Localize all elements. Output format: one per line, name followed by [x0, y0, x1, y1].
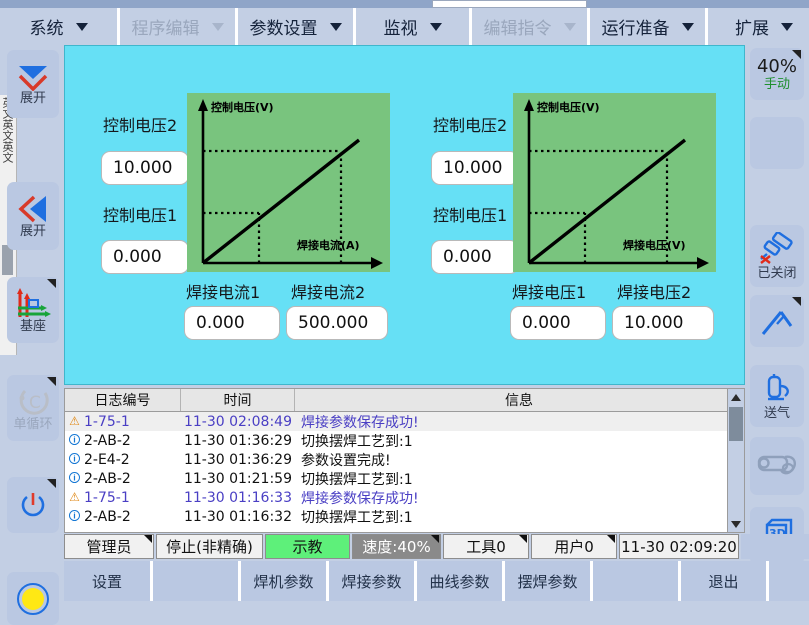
current-curve-plot: 控制电压(V) 焊接电流(A)	[187, 93, 390, 272]
voltage-curve-chart: 控制电压(V) 焊接电压(V)	[513, 93, 716, 272]
voltage-curve-plot: 控制电压(V) 焊接电压(V)	[513, 93, 716, 272]
function-button-label: 焊机参数	[253, 571, 313, 592]
function-button-5[interactable]: 摆焊参数	[505, 561, 593, 601]
log-row-message: 参数设置完成!	[295, 450, 744, 470]
log-table-header: 日志编号 时间 信息	[65, 389, 744, 412]
log-row-id: 2-AB-2	[84, 471, 181, 487]
parameter-canvas: 控制电压2 10.000 控制电压1 0.000 控制电压(V) 焊接电流(A)	[64, 45, 745, 385]
welding-voltage-1-input[interactable]: 0.000	[510, 306, 606, 340]
menu-item-4: 编辑指令	[472, 8, 590, 45]
info-icon: 🛈	[65, 469, 84, 488]
welding-current-2-label: 焊接电流2	[291, 279, 365, 303]
menu-item-5[interactable]: 运行准备	[590, 8, 708, 45]
log-row-time: 11-30 01:36:29	[181, 452, 295, 468]
log-row-time: 11-30 02:08:49	[181, 414, 295, 430]
status-item-4[interactable]: 工具0	[443, 534, 529, 559]
power-icon	[17, 489, 49, 521]
gas-feed-label: 送气	[764, 407, 790, 421]
menu-item-1: 程序编辑	[120, 8, 238, 45]
yellow-dot-icon	[15, 581, 51, 617]
status-item-0[interactable]: 管理员	[64, 534, 154, 559]
function-button-label: 摆焊参数	[517, 571, 577, 592]
status-item-label: 11-30 02:09:20	[621, 538, 737, 556]
welding-torch-icon	[757, 304, 797, 338]
chevron-down-icon	[564, 23, 576, 31]
menu-item-3[interactable]: 监视	[356, 8, 472, 45]
log-row[interactable]: 🛈2-AB-211-30 01:16:32切换摆焊工艺到:1	[65, 507, 744, 526]
expand-down-button[interactable]: 展开	[7, 50, 59, 118]
log-col-id: 日志编号	[65, 389, 181, 411]
single-cycle-button[interactable]: C 单循环	[7, 375, 59, 441]
function-button-label: 设置	[92, 571, 122, 592]
y-axis-label: 控制电压(V)	[211, 100, 274, 114]
gas-feed-button[interactable]: 送气	[750, 365, 804, 427]
menu-item-label: 系统	[30, 14, 64, 39]
welding-current-2-input[interactable]: 500.000	[286, 306, 388, 340]
log-row-time: 11-30 01:36:29	[181, 433, 295, 449]
svg-text:C: C	[29, 393, 41, 413]
title-strip	[0, 0, 809, 8]
chevron-down-icon	[212, 23, 224, 31]
function-button-label: 退出	[708, 571, 738, 592]
log-row-id: 2-AB-2	[84, 433, 181, 449]
base-coordinate-button[interactable]: 基座	[7, 277, 59, 343]
welder-state-button[interactable]: 已关闭	[750, 225, 804, 287]
current-curve-chart: 控制电压(V) 焊接电流(A)	[187, 93, 390, 272]
gas-cylinder-icon	[758, 372, 796, 406]
welder-state-label: 已关闭	[757, 267, 796, 281]
function-button-3[interactable]: 焊接参数	[329, 561, 417, 601]
control-voltage-1-input[interactable]: 0.000	[101, 240, 189, 274]
welding-voltage-2-label: 焊接电压2	[617, 279, 691, 303]
blank-slot-button[interactable]	[750, 117, 804, 169]
function-button-6[interactable]	[593, 561, 681, 601]
voltage-curve-group: 控制电压2 10.000 控制电压1 0.000 控制电压(V) 焊接电压(V)	[395, 46, 735, 384]
log-row-message: 焊接参数保存成功!	[295, 488, 744, 508]
status-item-label: 管理员	[86, 536, 131, 557]
welding-voltage-2-input[interactable]: 10.000	[612, 306, 714, 340]
function-button-label: 曲线参数	[429, 571, 489, 592]
expand-left-label: 展开	[20, 225, 46, 239]
dropdown-corner-icon	[607, 535, 615, 543]
menu-item-label: 监视	[384, 14, 418, 39]
log-col-msg: 信息	[295, 389, 744, 411]
base-coordinate-label: 基座	[20, 320, 46, 334]
welding-torch-off-icon	[757, 232, 797, 266]
log-row-time: 11-30 01:21:59	[181, 471, 295, 487]
speed-override-button[interactable]: 40% 手动	[750, 48, 804, 100]
info-icon: 🛈	[65, 450, 84, 469]
log-row-id: 1-75-1	[84, 490, 181, 506]
menu-bar: 系统程序编辑参数设置监视编辑指令运行准备扩展	[0, 8, 809, 45]
chevron-double-down-icon	[16, 63, 50, 91]
chevron-down-icon	[781, 23, 793, 31]
log-row[interactable]: 🛈2-AB-211-30 01:21:59切换摆焊工艺到:1	[65, 469, 744, 488]
status-item-1[interactable]: 停止(非精确)	[156, 534, 263, 559]
function-button-1[interactable]	[153, 561, 241, 601]
speed-override-mode: 手动	[764, 78, 790, 92]
log-row[interactable]: 🛈2-AB-211-30 01:36:29切换摆焊工艺到:1	[65, 431, 744, 450]
corner-marker-icon	[792, 50, 801, 59]
chevron-down-icon	[76, 23, 88, 31]
chevron-down-icon	[330, 23, 342, 31]
window-tab-ghost	[432, 0, 587, 8]
welding-voltage-1-label: 焊接电压1	[512, 279, 586, 303]
corner-marker-icon	[792, 297, 801, 306]
menu-item-label: 扩展	[735, 14, 769, 39]
chevron-down-icon	[682, 23, 694, 31]
log-table: 日志编号 时间 信息 ⚠1-75-111-30 02:08:49焊接参数保存成功…	[64, 388, 745, 533]
right-toolbar: 40% 手动 已关闭	[745, 45, 809, 601]
log-row-message: 切换摆焊工艺到:1	[295, 469, 744, 489]
status-item-7[interactable]	[741, 534, 809, 559]
x-axis-label: 焊接电压(V)	[623, 238, 686, 252]
function-button-4[interactable]: 曲线参数	[417, 561, 505, 601]
menu-item-label: 参数设置	[250, 14, 318, 39]
control-voltage-1-label: 控制电压1	[433, 202, 507, 226]
menu-item-label: 编辑指令	[484, 14, 552, 39]
corner-marker-icon	[47, 279, 56, 288]
status-item-2[interactable]: 示教	[265, 534, 350, 559]
expand-down-label: 展开	[20, 92, 46, 106]
log-row-message: 焊接参数保存成功!	[295, 412, 744, 432]
expand-left-button[interactable]: 展开	[7, 182, 59, 250]
log-row[interactable]: ⚠1-75-111-30 02:08:49焊接参数保存成功!	[65, 412, 744, 431]
status-item-label: 示教	[292, 536, 322, 557]
function-button-label: 焊接参数	[341, 571, 401, 592]
chevron-double-left-icon	[16, 194, 50, 224]
scroll-down-arrow[interactable]	[728, 516, 744, 532]
status-item-label: 用户0	[554, 536, 594, 557]
log-table-body[interactable]: ⚠1-75-111-30 02:08:49焊接参数保存成功!🛈2-AB-211-…	[65, 412, 744, 532]
cycle-icon: C	[15, 385, 51, 417]
log-row-id: 1-75-1	[84, 414, 181, 430]
log-row-message: 切换摆焊工艺到:1	[295, 431, 744, 451]
menu-item-label: 运行准备	[602, 14, 670, 39]
speed-override-value: 40%	[757, 57, 797, 77]
status-item-label: 工具0	[466, 536, 506, 557]
menu-item-6[interactable]: 扩展	[708, 8, 809, 45]
dropdown-corner-icon	[431, 535, 439, 543]
log-row-time: 11-30 01:16:33	[181, 490, 295, 506]
coordinate-axes-icon	[14, 287, 52, 319]
single-cycle-label: 单循环	[13, 418, 52, 432]
control-voltage-2-label: 控制电压2	[103, 112, 177, 136]
status-bar: 管理员停止(非精确)示教速度:40%工具0用户011-30 02:09:20	[64, 534, 809, 560]
status-item-5[interactable]: 用户0	[531, 534, 617, 559]
warning-icon: ⚠	[65, 412, 84, 431]
current-curve-group: 控制电压2 10.000 控制电压1 0.000 控制电压(V) 焊接电流(A)	[65, 46, 405, 384]
log-col-time: 时间	[181, 389, 295, 411]
scroll-thumb[interactable]	[729, 407, 743, 441]
control-voltage-2-input[interactable]: 10.000	[101, 151, 189, 185]
x-axis-label: 焊接电流(A)	[297, 238, 360, 252]
log-row[interactable]: 🛈2-E4-211-30 01:36:29参数设置完成!	[65, 450, 744, 469]
log-scrollbar[interactable]	[727, 389, 744, 532]
function-button-8[interactable]	[769, 561, 809, 601]
left-toolbar: 英文英文英文 展开 展开	[0, 45, 64, 601]
info-icon: 🛈	[65, 507, 84, 526]
control-voltage-2-label: 控制电压2	[433, 112, 507, 136]
y-axis-label: 控制电压(V)	[537, 100, 600, 114]
function-button-2[interactable]: 焊机参数	[241, 561, 329, 601]
chevron-down-icon	[430, 23, 442, 31]
info-icon: 🛈	[65, 431, 84, 450]
status-item-3[interactable]: 速度:40%	[352, 534, 441, 559]
scroll-up-arrow[interactable]	[728, 389, 744, 405]
status-item-label: 停止(非精确)	[166, 536, 253, 557]
welding-current-1-input[interactable]: 0.000	[184, 306, 280, 340]
log-row-id: 2-E4-2	[84, 452, 181, 468]
hand-teach-pendant-icon	[753, 449, 801, 483]
dropdown-corner-icon	[144, 535, 152, 543]
function-button-7[interactable]: 退出	[681, 561, 769, 601]
control-voltage-1-input[interactable]: 0.000	[431, 240, 519, 274]
menu-item-2[interactable]: 参数设置	[238, 8, 356, 45]
welding-current-1-label: 焊接电流1	[186, 279, 260, 303]
log-row[interactable]: ⚠1-75-111-30 01:16:33焊接参数保存成功!	[65, 488, 744, 507]
manual-jog-button[interactable]	[750, 437, 804, 495]
menu-item-0[interactable]: 系统	[0, 8, 120, 45]
log-row-id: 2-AB-2	[84, 509, 181, 525]
dropdown-corner-icon	[519, 535, 527, 543]
warning-icon: ⚠	[65, 488, 84, 507]
status-item-label: 速度:40%	[362, 536, 430, 557]
menu-item-label: 程序编辑	[132, 14, 200, 39]
control-voltage-2-input[interactable]: 10.000	[431, 151, 519, 185]
log-row-time: 11-30 01:16:32	[181, 509, 295, 525]
log-row-message: 切换摆焊工艺到:1	[295, 507, 744, 527]
emergency-indicator[interactable]	[7, 572, 59, 625]
status-item-6[interactable]: 11-30 02:09:20	[619, 534, 739, 559]
function-button-0[interactable]: 设置	[64, 561, 153, 601]
function-button-bar: 设置焊机参数焊接参数曲线参数摆焊参数退出	[64, 561, 809, 601]
corner-marker-icon	[47, 479, 56, 488]
corner-marker-icon	[47, 377, 56, 386]
welding-tool-button[interactable]	[750, 295, 804, 347]
servo-power-button[interactable]	[7, 477, 59, 533]
control-voltage-1-label: 控制电压1	[103, 202, 177, 226]
